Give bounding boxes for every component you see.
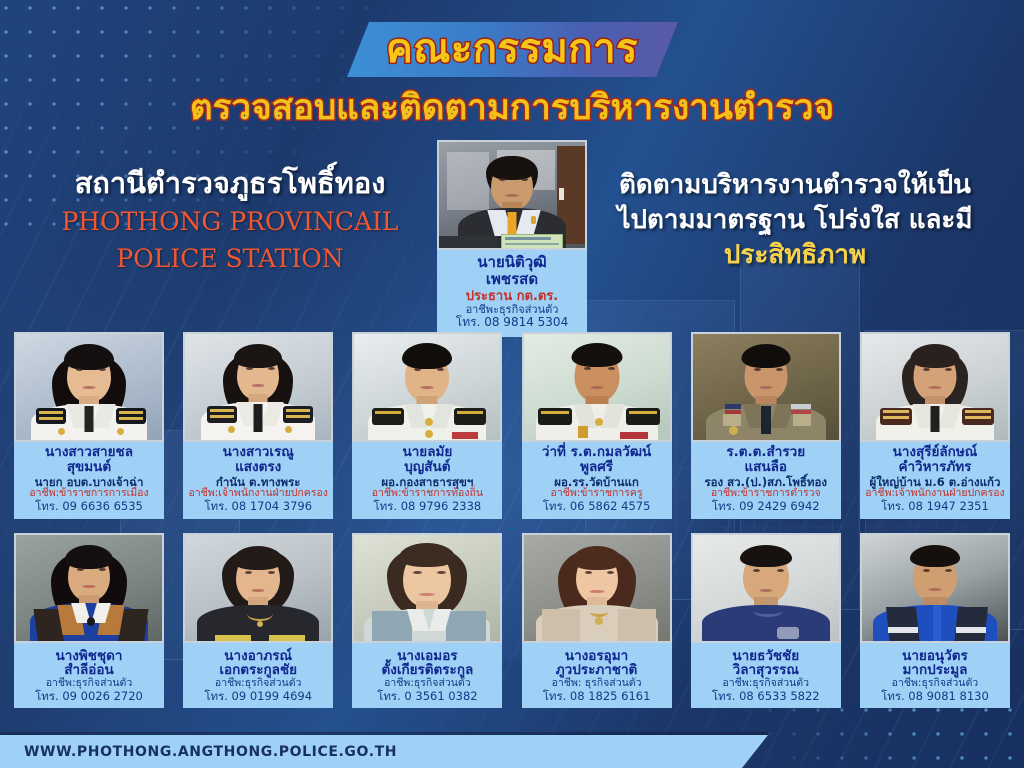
chairman-card[interactable]: นายนิติวุฒิ เพชรสด ประธาน กต.ตร. อาชีพะธ… xyxy=(437,140,587,337)
member-card-2[interactable]: นางสาวเรณู แสงตรง กำนัน ต.ทางพระ อาชีพ:เ… xyxy=(183,332,333,519)
member-telephone: โทร. 08 1704 3796 xyxy=(185,500,331,513)
station-name-english-line2: POLICE STATION xyxy=(30,242,430,275)
member-photo-6 xyxy=(860,332,1010,442)
mission-line-3: ประสิทธิภาพ xyxy=(590,238,1000,273)
member-telephone: โทร. 08 9081 8130 xyxy=(862,690,1008,703)
member-name-line1: นายลมัย xyxy=(354,445,500,460)
chairman-name-line2: เพชรสด xyxy=(439,271,585,288)
mission-line-1: ติดตามบริหารงานตำรวจให้เป็น xyxy=(590,168,1000,203)
member-telephone: โทร. 08 6533 5822 xyxy=(693,690,839,703)
chairman-name-line1: นายนิติวุฒิ xyxy=(439,254,585,271)
member-telephone: โทร. 08 1947 2351 xyxy=(862,500,1008,513)
page-subtitle: ตรวจสอบและติดตามการบริหารงานตำรวจ xyxy=(0,86,1024,130)
member-card-9[interactable]: นางเอมอร ตั้งเกียรติตระกูล อาชีพ:ธุรกิจส… xyxy=(352,533,502,709)
member-card-12[interactable]: นายอนุวัตร มากประมูล อาชีพ:ธุรกิจส่วนตัว… xyxy=(860,533,1010,709)
background-dot-pattern-bottom-right xyxy=(734,698,1024,768)
member-caption-5: ร.ต.ต.สำรวย แสนลือ รอง สว.(ป.)สภ.โพธิ์ทอ… xyxy=(691,442,841,519)
member-card-3[interactable]: นายลมัย บุญสันต์ ผอ.กองสาธารสุขฯ อาชีพ:ข… xyxy=(352,332,502,519)
mission-line-2: ไปตามมาตรฐาน โปร่งใส และมี xyxy=(590,203,1000,238)
chairman-photo xyxy=(437,140,587,250)
member-card-4[interactable]: ว่าที่ ร.ต.กมลวัฒน์ พูลศรี ผอ.รร.วัดบ้าน… xyxy=(522,332,672,519)
member-caption-4: ว่าที่ ร.ต.กมลวัฒน์ พูลศรี ผอ.รร.วัดบ้าน… xyxy=(522,442,672,519)
member-caption-12: นายอนุวัตร มากประมูล อาชีพ:ธุรกิจส่วนตัว… xyxy=(860,643,1010,709)
member-card-7[interactable]: นางพิชชุดา สำลีอ่อน อาชีพ:ธุรกิจส่วนตัว … xyxy=(14,533,164,709)
member-caption-8: นางอาภรณ์ เอกตระกูลชัย อาชีพ:ธุรกิจส่วนต… xyxy=(183,643,333,709)
member-photo-11 xyxy=(691,533,841,643)
member-caption-6: นางสุรีย์ลักษณ์ คำวิหารภัทร ผู้ใหญ่บ้าน … xyxy=(860,442,1010,519)
member-name-line2: คำวิหารภัทร xyxy=(862,460,1008,475)
member-photo-9 xyxy=(352,533,502,643)
member-name-line2: มากประมูล xyxy=(862,663,1008,678)
member-name-line1: นางพิชชุดา xyxy=(16,649,162,664)
member-name-line2: เอกตระกูลชัย xyxy=(185,663,331,678)
member-photo-3 xyxy=(352,332,502,442)
station-name-block: สถานีตำรวจภูธรโพธิ์ทอง PHOTHONG PROVINCA… xyxy=(30,165,430,275)
member-card-11[interactable]: นายธวัชชัย วิลาสุวรรณ อาชีพ:ธุรกิจส่วนตั… xyxy=(691,533,841,709)
member-card-8[interactable]: นางอาภรณ์ เอกตระกูลชัย อาชีพ:ธุรกิจส่วนต… xyxy=(183,533,333,709)
member-caption-7: นางพิชชุดา สำลีอ่อน อาชีพ:ธุรกิจส่วนตัว … xyxy=(14,643,164,709)
footer-website: WWW.PHOTHONG.ANGTHONG.POLICE.GO.TH xyxy=(24,744,397,760)
chairman-caption: นายนิติวุฒิ เพชรสด ประธาน กต.ตร. อาชีพะธ… xyxy=(437,250,587,337)
member-photo-5 xyxy=(691,332,841,442)
member-telephone: โทร. 0 3561 0382 xyxy=(354,690,500,703)
member-name-line2: บุญสันต์ xyxy=(354,460,500,475)
member-name-line1: นางสุรีย์ลักษณ์ xyxy=(862,445,1008,460)
committee-row-2: นางพิชชุดา สำลีอ่อน อาชีพ:ธุรกิจส่วนตัว … xyxy=(0,533,1024,709)
member-photo-7 xyxy=(14,533,164,643)
member-photo-2 xyxy=(183,332,333,442)
member-name-line1: ร.ต.ต.สำรวย xyxy=(693,445,839,460)
member-name-line2: แสงตรง xyxy=(185,460,331,475)
footer-divider xyxy=(0,732,768,735)
member-photo-12 xyxy=(860,533,1010,643)
page-title: คณะกรรมการ xyxy=(0,26,1024,72)
member-name-line2: สำลีอ่อน xyxy=(16,663,162,678)
member-name-line2: ภูวประภาชาติ xyxy=(524,663,670,678)
member-card-1[interactable]: นางสาวสายชล สุขมนต์ นายก อบต.บางเจ้าฉ่า … xyxy=(14,332,164,519)
member-card-5[interactable]: ร.ต.ต.สำรวย แสนลือ รอง สว.(ป.)สภ.โพธิ์ทอ… xyxy=(691,332,841,519)
member-card-10[interactable]: นางอรอุมา ภูวประภาชาติ อาชีพ: ธุรกิจส่วน… xyxy=(522,533,672,709)
member-photo-8 xyxy=(183,533,333,643)
station-name-english-line1: PHOTHONG PROVINCAIL xyxy=(30,205,430,238)
committee-row-1: นางสาวสายชล สุขมนต์ นายก อบต.บางเจ้าฉ่า … xyxy=(0,332,1024,519)
member-name-line2: วิลาสุวรรณ xyxy=(693,663,839,678)
member-name-line1: ว่าที่ ร.ต.กมลวัฒน์ xyxy=(524,445,670,460)
chairman-role: ประธาน กต.ตร. xyxy=(439,290,585,305)
member-name-line2: แสนลือ xyxy=(693,460,839,475)
member-name-line1: นายธวัชชัย xyxy=(693,649,839,664)
member-photo-4 xyxy=(522,332,672,442)
member-telephone: โทร. 09 2429 6942 xyxy=(693,500,839,513)
member-telephone: โทร. 08 9796 2338 xyxy=(354,500,500,513)
member-card-6[interactable]: นางสุรีย์ลักษณ์ คำวิหารภัทร ผู้ใหญ่บ้าน … xyxy=(860,332,1010,519)
member-telephone: โทร. 08 1825 6161 xyxy=(524,690,670,703)
member-telephone: โทร. 09 0199 4694 xyxy=(185,690,331,703)
member-telephone: โทร. 06 5862 4575 xyxy=(524,500,670,513)
member-name-line2: พูลศรี xyxy=(524,460,670,475)
member-name-line1: นางสาวสายชล xyxy=(16,445,162,460)
member-photo-10 xyxy=(522,533,672,643)
member-name-line1: นางอรอุมา xyxy=(524,649,670,664)
committee-grid: นางสาวสายชล สุขมนต์ นายก อบต.บางเจ้าฉ่า … xyxy=(0,332,1024,708)
member-telephone: โทร. 09 6636 6535 xyxy=(16,500,162,513)
member-caption-1: นางสาวสายชล สุขมนต์ นายก อบต.บางเจ้าฉ่า … xyxy=(14,442,164,519)
station-name-thai: สถานีตำรวจภูธรโพธิ์ทอง xyxy=(30,165,430,201)
member-caption-3: นายลมัย บุญสันต์ ผอ.กองสาธารสุขฯ อาชีพ:ข… xyxy=(352,442,502,519)
member-photo-1 xyxy=(14,332,164,442)
member-caption-10: นางอรอุมา ภูวประภาชาติ อาชีพ: ธุรกิจส่วน… xyxy=(522,643,672,709)
poster-canvas: คณะกรรมการ ตรวจสอบและติดตามการบริหารงานต… xyxy=(0,0,1024,768)
member-name-line1: นายอนุวัตร xyxy=(862,649,1008,664)
member-caption-11: นายธวัชชัย วิลาสุวรรณ อาชีพ:ธุรกิจส่วนตั… xyxy=(691,643,841,709)
member-telephone: โทร. 09 0026 2720 xyxy=(16,690,162,703)
member-caption-2: นางสาวเรณู แสงตรง กำนัน ต.ทางพระ อาชีพ:เ… xyxy=(183,442,333,519)
member-name-line2: ตั้งเกียรติตระกูล xyxy=(354,663,500,678)
mission-statement-block: ติดตามบริหารงานตำรวจให้เป็น ไปตามมาตรฐาน… xyxy=(590,168,1000,273)
member-name-line1: นางอาภรณ์ xyxy=(185,649,331,664)
member-caption-9: นางเอมอร ตั้งเกียรติตระกูล อาชีพ:ธุรกิจส… xyxy=(352,643,502,709)
chairman-telephone: โทร. 08 9814 5304 xyxy=(439,316,585,329)
member-name-line1: นางสาวเรณู xyxy=(185,445,331,460)
member-name-line2: สุขมนต์ xyxy=(16,460,162,475)
